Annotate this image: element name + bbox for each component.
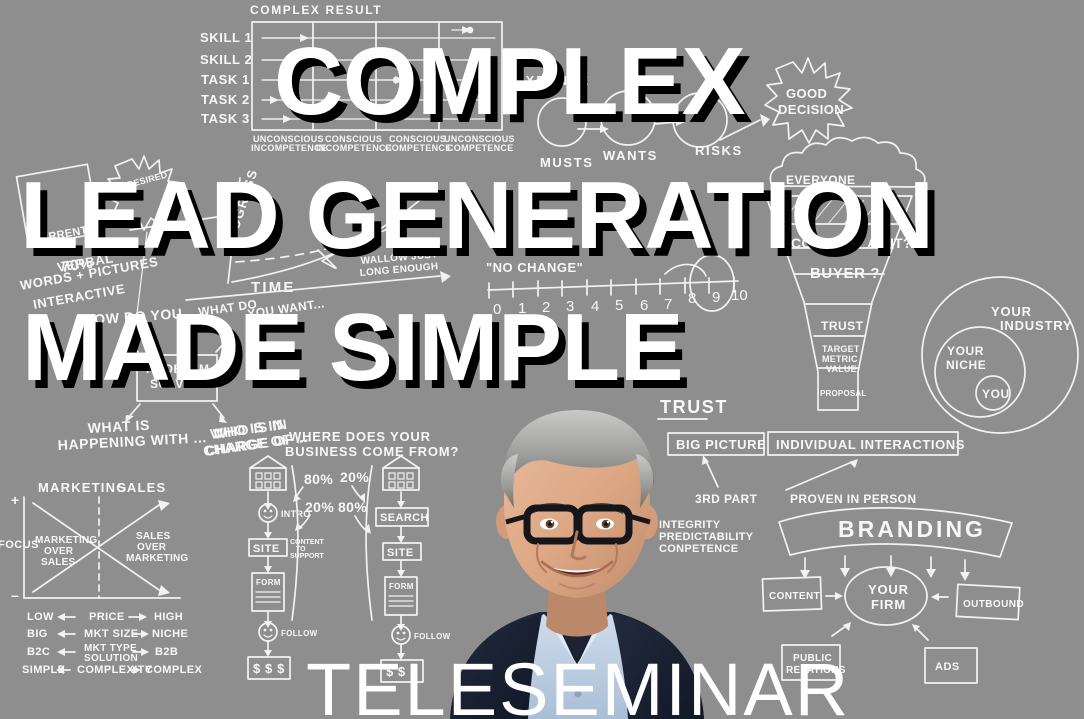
focus-axis-label: FOCUS (0, 539, 39, 551)
right-block-label: OVER (137, 542, 167, 553)
matrix-row-label: SKILL 2 (200, 52, 252, 67)
funnel-stage-label: TRUST (821, 319, 864, 333)
poster-canvas: COMPLEX RESULT SKILL 1 SKILL 2 TASK 1 TA… (0, 0, 1084, 719)
trust-box-right: INDIVIDUAL INTERACTIONS (776, 437, 965, 452)
headline-line-1: COMPLEX (274, 34, 745, 130)
decision-item-label: RISKS (695, 143, 743, 158)
branding-input-label: CONTENT (769, 591, 820, 602)
good-decision-label: DECISION (778, 102, 844, 117)
lead-paths-diagram: WHO IS IN CHARGE OF ... WHERE DOES YOUR … (202, 416, 459, 682)
right-block-label: SALES (136, 531, 170, 542)
flow-step-label: FORM (256, 578, 281, 587)
left-flow: INTRO SITE CONTENT TO SUPPORT FORM FOLLO… (248, 456, 325, 679)
competence-matrix-title: COMPLEX RESULT (250, 3, 382, 17)
content-support-note: CONTENT (290, 539, 325, 546)
flow-step-label: SEARCH (380, 512, 429, 524)
matrix-row-label: TASK 1 (201, 72, 250, 87)
chart-header-sales: SALES (117, 480, 166, 495)
spectrum-right: COMPLEX (145, 664, 202, 676)
matrix-col-label: INCOMPETENCE (316, 143, 392, 153)
headline-line-3: MADE SIMPLE (22, 300, 683, 396)
content-support-note: SUPPORT (290, 553, 325, 560)
matrix-col-label: COMPETENCE (447, 143, 514, 153)
spectrum-left: LOW (27, 611, 54, 623)
spectrum-mid: COMPLEXITY (77, 664, 153, 676)
spectrum-mid: PRICE (89, 611, 125, 623)
question-label: HAPPENING WITH ... (57, 429, 207, 453)
axis-plus: + (11, 492, 19, 508)
funnel-stage-label: VALUE (826, 364, 857, 374)
flow-step-label: FORM (389, 582, 414, 591)
funnel-stage-label: PROPOSAL (820, 389, 867, 398)
teleseminar-label: TELESEMINAR (306, 653, 850, 719)
branding-input-label: OUTBOUND (963, 599, 1024, 610)
spectrum-left: BIG (27, 628, 48, 640)
scale-tick-label: 9 (712, 289, 720, 306)
headline-line-2: LEAD GENERATION (20, 168, 933, 264)
lead-percentage: 80% (338, 499, 367, 515)
left-block-label: SALES (41, 557, 75, 568)
branding-input-label: ADS (935, 661, 960, 673)
right-block-label: MARKETING (126, 553, 188, 564)
marketing-sales-chart: MARKETING SALES + – FOCUS MARKETING OVER… (0, 480, 202, 676)
spectrum-mid: MKT SIZE (84, 628, 139, 640)
circle-inner-label: YOU (982, 387, 1010, 401)
spectrum-right: HIGH (154, 611, 183, 623)
flow-step-label: SITE (387, 547, 414, 559)
axis-minus: – (11, 587, 19, 603)
left-block-label: MARKETING (35, 535, 97, 546)
spectrum-right: B2B (155, 646, 178, 658)
lead-percentage: 20% (340, 469, 369, 485)
trust-note-right: PROVEN IN PERSON (790, 492, 916, 506)
matrix-row-label: TASK 2 (201, 92, 250, 107)
circle-outer-label: INDUSTRY (1000, 318, 1072, 333)
matrix-row-label: TASK 3 (201, 111, 250, 126)
circle-middle-label: NICHE (946, 358, 986, 372)
your-firm-label: FIRM (871, 597, 906, 612)
spectrum-mid: SOLUTION (84, 653, 138, 664)
industry-niche-circles: YOUR INDUSTRY YOUR NICHE YOU (922, 277, 1078, 433)
flow-revenue-label: $ $ $ (253, 661, 285, 676)
chart-header-marketing: MARKETING (38, 480, 128, 495)
spectrum-right: NICHE (152, 628, 188, 640)
matrix-row-label: SKILL 1 (200, 30, 252, 45)
circle-middle-label: YOUR (947, 344, 984, 358)
matrix-col-label: COMPETENCE (385, 143, 452, 153)
funnel-stage-label: METRIC (822, 354, 858, 364)
your-firm-label: YOUR (868, 582, 909, 597)
flow-step-label: FOLLOW (281, 629, 318, 638)
branding-arrows (800, 556, 970, 581)
circle-outer-label: YOUR (991, 304, 1032, 319)
good-decision-label: GOOD (786, 86, 827, 101)
flow-step-label: SITE (253, 543, 280, 555)
lead-percentage: 80% (304, 471, 333, 487)
lead-path-title-right: WHERE DOES YOUR (289, 429, 431, 444)
branding-arc-label: BRANDING (838, 516, 986, 542)
left-block-label: OVER (44, 546, 74, 557)
spectrum-left: B2C (27, 646, 50, 658)
funnel-stage-label: TARGET (822, 344, 860, 354)
decision-item-label: WANTS (603, 148, 658, 163)
scale-tick-label: 8 (688, 290, 696, 307)
lead-percentage: 20% (305, 499, 334, 515)
